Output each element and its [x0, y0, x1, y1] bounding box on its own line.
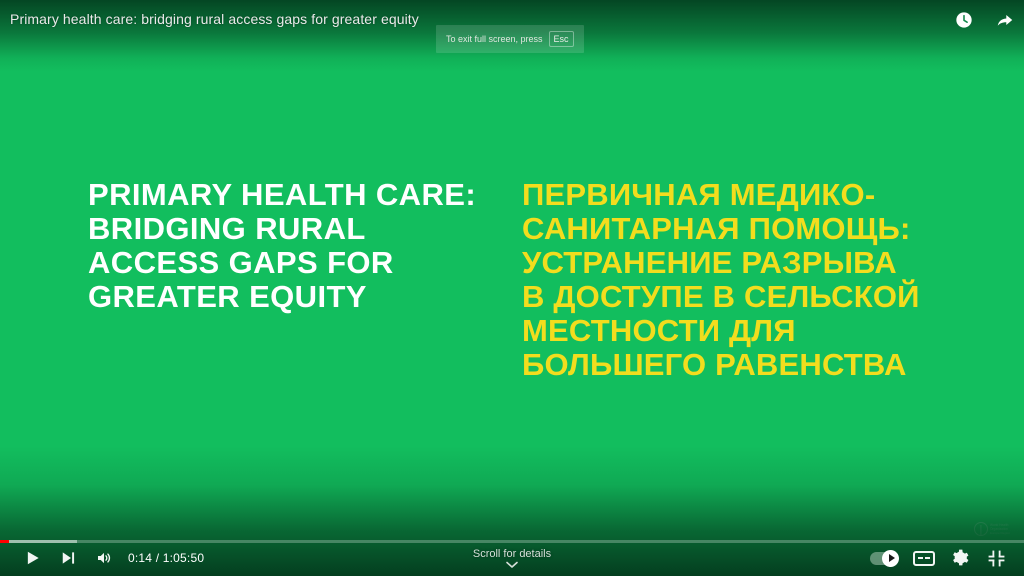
cc-icon [913, 551, 935, 566]
autoplay-toggle-knob [882, 550, 899, 567]
video-title[interactable]: Primary health care: bridging rural acce… [10, 10, 419, 28]
slide-title-ru-line: БОЛЬШЕГО РАВЕНСТВА [522, 348, 942, 382]
slide-title-ru-line: САНИТАРНАЯ ПОМОЩЬ: [522, 212, 942, 246]
player-controls-right [862, 540, 1024, 576]
subtitles-cc-button[interactable] [906, 540, 942, 576]
exit-fullscreen-toast-text: To exit full screen, press [446, 33, 543, 45]
exit-fullscreen-button[interactable] [978, 540, 1014, 576]
who-logo: World Health Organization Europe Region [974, 518, 1018, 540]
slide-title-ru-line: МЕСТНОСТИ ДЛЯ [522, 314, 942, 348]
player-controls: 0:14 / 1:05:50 [0, 540, 1024, 576]
settings-button[interactable] [942, 540, 978, 576]
slide-title-en-line: GREATER EQUITY [88, 280, 508, 314]
slide-title-en-line: ACCESS GAPS FOR [88, 246, 508, 280]
top-right-controls [952, 8, 1016, 32]
video-player[interactable]: PRIMARY HEALTH CARE: BRIDGING RURAL ACCE… [0, 0, 1024, 576]
autoplay-toggle[interactable] [862, 540, 906, 576]
volume-button[interactable] [86, 540, 122, 576]
video-slide: PRIMARY HEALTH CARE: BRIDGING RURAL ACCE… [0, 0, 1024, 576]
slide-columns: PRIMARY HEALTH CARE: BRIDGING RURAL ACCE… [0, 0, 1024, 576]
play-triangle-icon [889, 554, 895, 562]
slide-title-russian: ПЕРВИЧНАЯ МЕДИКО- САНИТАРНАЯ ПОМОЩЬ: УСТ… [522, 178, 942, 382]
time-display: 0:14 / 1:05:50 [122, 540, 212, 576]
who-logo-line3: Europe Region [990, 531, 1010, 535]
slide-title-ru-line: УСТРАНЕНИЕ РАЗРЫВА [522, 246, 942, 280]
esc-key-badge: Esc [549, 31, 574, 47]
slide-title-ru-line: ПЕРВИЧНАЯ МЕДИКО- [522, 178, 942, 212]
play-button[interactable] [14, 540, 50, 576]
player-controls-left: 0:14 / 1:05:50 [0, 540, 212, 576]
autoplay-toggle-track [870, 552, 898, 565]
slide-title-en-line: PRIMARY HEALTH CARE: [88, 178, 508, 212]
exit-fullscreen-toast: To exit full screen, press Esc [436, 25, 584, 53]
slide-title-english: PRIMARY HEALTH CARE: BRIDGING RURAL ACCE… [88, 178, 508, 314]
cc-bar [925, 557, 930, 559]
who-emblem-icon [974, 522, 988, 536]
who-logo-text: World Health Organization Europe Region [990, 523, 1010, 536]
share-icon[interactable] [992, 8, 1016, 32]
watch-later-icon[interactable] [952, 8, 976, 32]
slide-title-en-line: BRIDGING RURAL [88, 212, 508, 246]
next-video-button[interactable] [50, 540, 86, 576]
cc-bar [918, 557, 923, 559]
slide-title-ru-line: В ДОСТУПЕ В СЕЛЬСКОЙ [522, 280, 942, 314]
